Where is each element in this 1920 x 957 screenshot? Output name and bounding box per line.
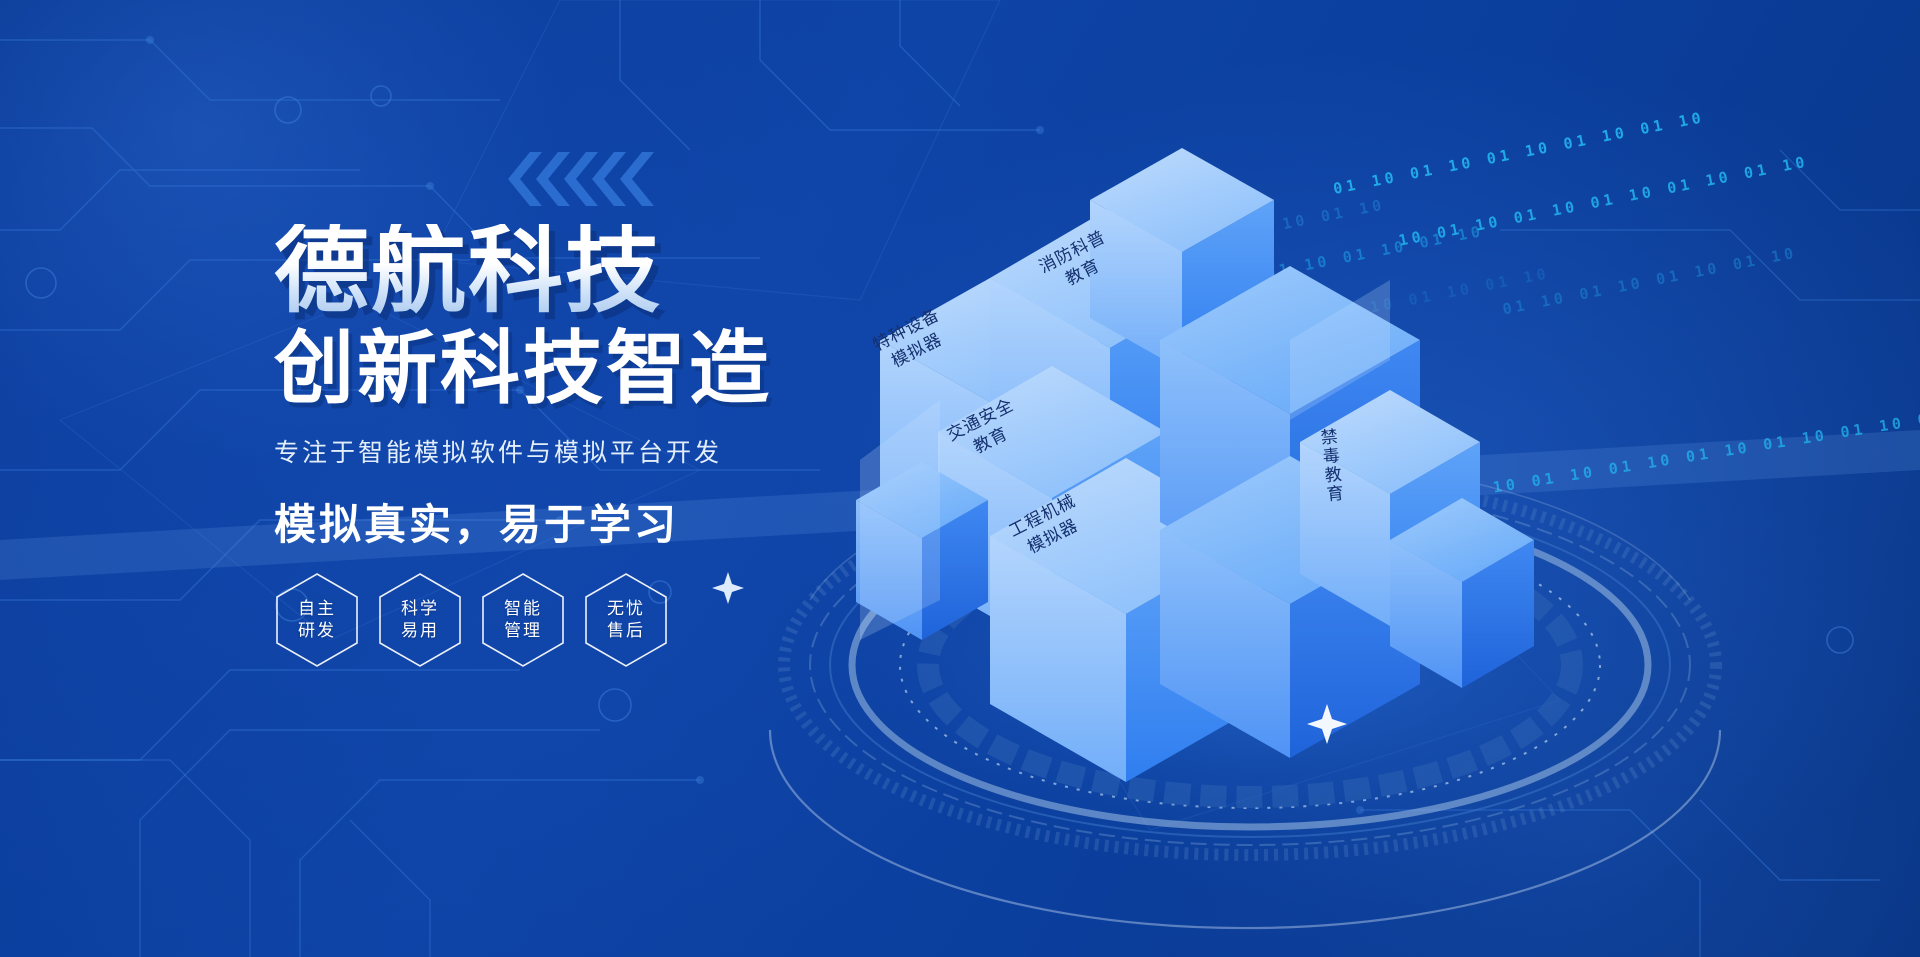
slogan-text: 模拟真实，易于学习 bbox=[274, 491, 914, 552]
feature-badge-worry-free-service[interactable]: 无忧 售后 bbox=[583, 572, 669, 668]
badge-line1: 自主 bbox=[298, 598, 336, 620]
feature-badge-label: 科学 易用 bbox=[401, 598, 439, 643]
chevron-arrows-icon bbox=[508, 148, 658, 210]
cube-label-line2: 教育 bbox=[1316, 465, 1345, 505]
badge-line1: 智能 bbox=[504, 598, 542, 620]
feature-badge-label: 自主 研发 bbox=[298, 598, 336, 643]
cube-label-line1: 禁毒 bbox=[1312, 427, 1341, 467]
hero-text-block: 德航科技 创新科技智造 专注于智能模拟软件与模拟平台开发 模拟真实，易于学习 bbox=[274, 224, 914, 552]
badge-line1: 无忧 bbox=[607, 598, 645, 620]
badge-line2: 管理 bbox=[504, 620, 542, 642]
badge-line2: 易用 bbox=[401, 620, 439, 642]
hero-banner: 01 10 01 10 01 10 01 10 10 01 10 01 10 0… bbox=[0, 0, 1920, 957]
feature-badge-self-developed[interactable]: 自主 研发 bbox=[274, 572, 360, 668]
badge-line1: 科学 bbox=[401, 598, 439, 620]
feature-badge-label: 智能 管理 bbox=[504, 598, 542, 643]
page-title: 德航科技 bbox=[274, 224, 914, 319]
feature-badge-smart-management[interactable]: 智能 管理 bbox=[480, 572, 566, 668]
feature-badge-scientific-easy[interactable]: 科学 易用 bbox=[377, 572, 463, 668]
badge-line2: 研发 bbox=[298, 620, 336, 642]
tagline-text: 专注于智能模拟软件与模拟平台开发 bbox=[274, 433, 914, 469]
feature-badge-row: 自主 研发 科学 易用 智能 管理 bbox=[274, 572, 669, 668]
page-subtitle: 创新科技智造 bbox=[274, 327, 914, 411]
feature-badge-label: 无忧 售后 bbox=[607, 598, 645, 643]
badge-line2: 售后 bbox=[607, 620, 645, 642]
